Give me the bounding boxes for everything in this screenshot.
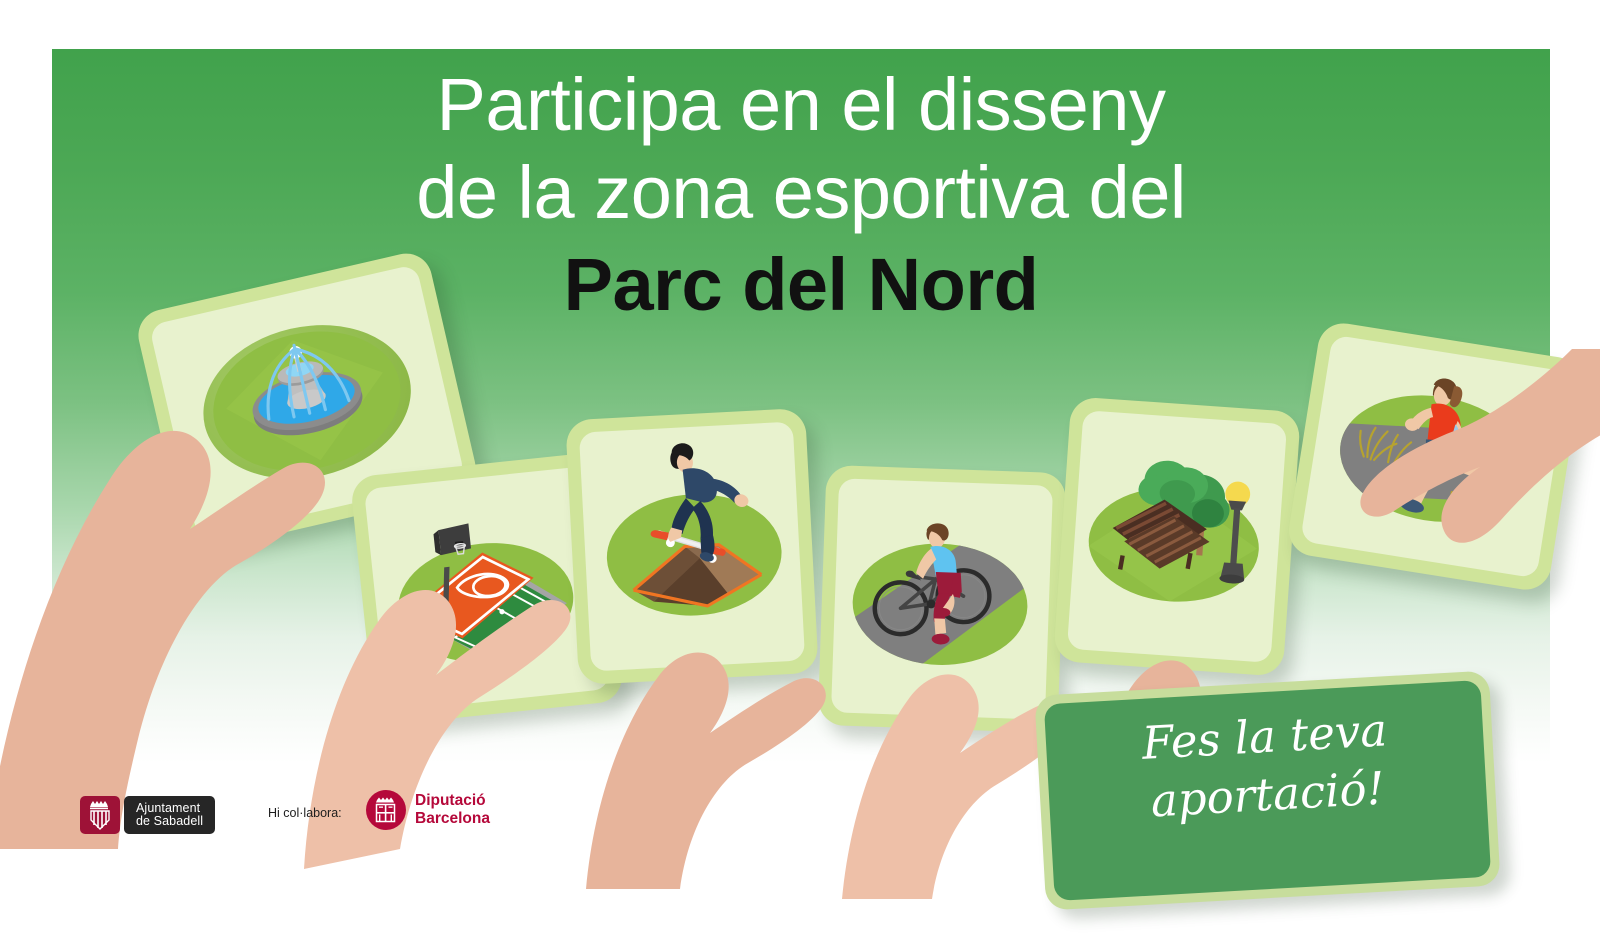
sabadell-shield-icon — [80, 796, 120, 834]
diputacio-line-2: Barcelona — [415, 810, 490, 828]
ajuntament-line-1: Ajuntament — [136, 802, 203, 816]
logo-ajuntament-de-sabadell[interactable]: Ajuntament de Sabadell — [80, 796, 215, 834]
collaborate-label: Hi col·labora: — [268, 806, 342, 820]
footer-logos: Ajuntament de Sabadell Hi col·labora: — [0, 786, 1600, 900]
cyclist-icon — [831, 478, 1053, 719]
cta-line-1: Fes la teva — [1141, 703, 1389, 770]
card-bike-lane[interactable] — [818, 465, 1067, 733]
runner-icon — [1300, 335, 1569, 579]
sabadell-crest-icon — [87, 800, 113, 830]
diputacio-castle-icon — [373, 796, 399, 824]
card-skatepark-inner — [579, 422, 805, 672]
headline-line-1: Participa en el disseny — [52, 61, 1550, 149]
card-park-bench-inner — [1067, 410, 1287, 663]
headline-line-2: de la zona esportiva del — [52, 149, 1550, 237]
diputacio-name: Diputació Barcelona — [415, 792, 490, 828]
card-skatepark[interactable] — [565, 408, 819, 685]
card-park-bench[interactable] — [1053, 396, 1301, 676]
card-running-path-inner — [1300, 335, 1569, 579]
ajuntament-line-2: de Sabadell — [136, 815, 203, 829]
logo-diputacio-barcelona[interactable]: Diputació Barcelona — [366, 790, 490, 830]
skateboarder-icon — [579, 422, 805, 672]
ajuntament-name-box: Ajuntament de Sabadell — [124, 796, 215, 834]
card-running-path[interactable] — [1285, 320, 1583, 594]
card-bike-lane-inner — [831, 478, 1053, 719]
park-bench-icon — [1067, 410, 1287, 663]
diputacio-crest-icon — [366, 790, 406, 830]
campaign-banner: Participa en el disseny de la zona espor… — [52, 49, 1550, 785]
diputacio-line-1: Diputació — [415, 792, 490, 810]
